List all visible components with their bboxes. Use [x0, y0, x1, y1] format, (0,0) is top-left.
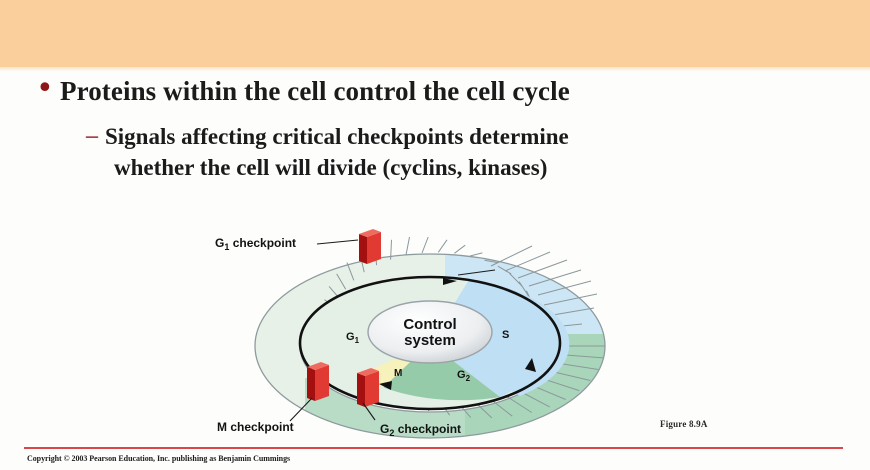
cell-cycle-diagram-svg: Control system G1 S G2 M: [195, 228, 695, 440]
bullet-main-text: Proteins within the cell control the cel…: [60, 74, 570, 108]
bullet-list: • Proteins within the cell control the c…: [0, 74, 870, 183]
bullet-main: • Proteins within the cell control the c…: [0, 74, 870, 108]
bullet-marker-icon: •: [36, 72, 60, 106]
bullet-sub-line1: Signals affecting critical checkpoints d…: [105, 124, 569, 149]
checkpoint-block-m: [307, 362, 329, 401]
header-band-fade: [0, 67, 870, 72]
control-system-label-line2: system: [404, 332, 456, 349]
header-band: [0, 0, 870, 67]
footer-copyright: Copyright © 2003 Pearson Education, Inc.…: [27, 454, 290, 463]
bullet-sub-line2: whether the cell will divide (cyclins, k…: [105, 152, 569, 183]
figure-credit: Figure 8.9A: [660, 419, 708, 429]
checkpoint-label-g1: G1 checkpoint: [215, 236, 296, 252]
phase-label-s: S: [502, 329, 509, 341]
checkpoint-block-g2: [357, 368, 379, 407]
phase-label-m: M: [394, 368, 402, 379]
bullet-sub-text: Signals affecting critical checkpoints d…: [105, 121, 569, 183]
dash-marker-icon: –: [86, 121, 105, 152]
bullet-sub: – Signals affecting critical checkpoints…: [0, 121, 870, 183]
footer-rule: [24, 447, 843, 449]
slide-canvas: • Proteins within the cell control the c…: [0, 0, 870, 470]
cell-cycle-figure: Control system G1 S G2 M: [195, 228, 695, 440]
checkpoint-block-g1: [359, 229, 381, 264]
control-system-label-line1: Control: [403, 316, 456, 333]
checkpoint-label-m: M checkpoint: [217, 420, 294, 434]
control-system-hub: Control system: [368, 301, 492, 363]
